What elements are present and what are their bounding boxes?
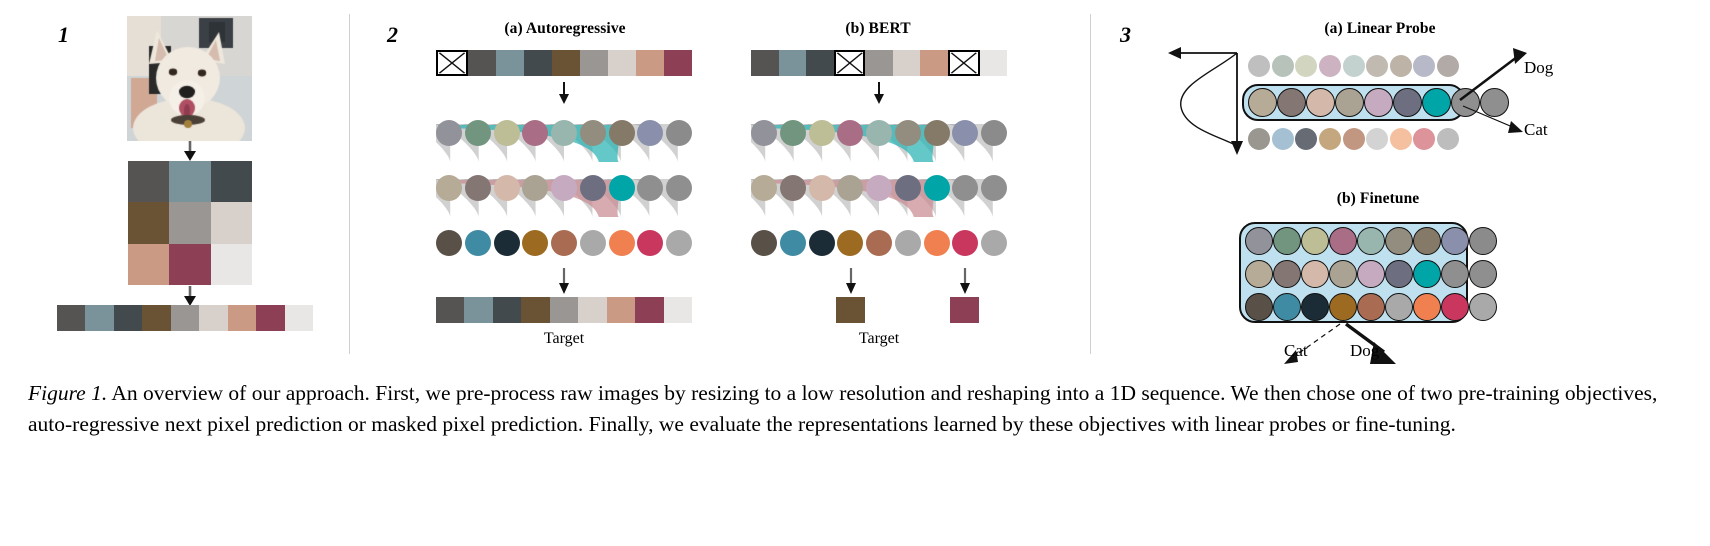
token-dot xyxy=(1413,55,1435,77)
arrow-bert-input-to-layer1 xyxy=(870,82,888,104)
bert-input-sequence xyxy=(751,50,1007,76)
sequence-cell xyxy=(608,50,636,76)
sequence-cell xyxy=(751,50,779,76)
token-dot xyxy=(1469,260,1497,288)
token-dot xyxy=(1273,227,1301,255)
arrow-bert-target-2 xyxy=(956,268,974,294)
sequence-cell xyxy=(171,305,199,331)
token-dot xyxy=(837,175,863,201)
pixel-cell xyxy=(128,161,169,202)
sequence-cell xyxy=(578,297,606,323)
token-dot xyxy=(666,120,692,146)
token-dot xyxy=(895,120,921,146)
token-dot xyxy=(1272,128,1294,150)
token-dot xyxy=(952,230,978,256)
token-dot xyxy=(1441,260,1469,288)
token-dot xyxy=(952,120,978,146)
token-dot xyxy=(981,175,1007,201)
linear-probe-label-dog: Dog xyxy=(1524,58,1553,78)
token-dot xyxy=(866,175,892,201)
token-dot xyxy=(1329,293,1357,321)
token-dot xyxy=(1469,227,1497,255)
mask-token-icon xyxy=(834,50,866,76)
token-dot xyxy=(1441,293,1469,321)
token-dot xyxy=(666,175,692,201)
token-dot xyxy=(1343,55,1365,77)
sequence-cell xyxy=(114,305,142,331)
token-dot xyxy=(1248,55,1270,77)
sequence-cell xyxy=(806,50,834,76)
token-dot xyxy=(494,120,520,146)
sequence-cell xyxy=(228,305,256,331)
pixel-cell xyxy=(169,244,210,285)
token-dot xyxy=(494,175,520,201)
pixel-sequence xyxy=(57,305,313,331)
linear-probe-label-cat: Cat xyxy=(1524,120,1548,140)
token-dot xyxy=(609,230,635,256)
token-dot xyxy=(895,175,921,201)
token-dot xyxy=(465,230,491,256)
sequence-cell xyxy=(524,50,552,76)
pixel-cell xyxy=(169,202,210,243)
token-dot xyxy=(1248,128,1270,150)
sequence-cell xyxy=(285,305,313,331)
token-dot xyxy=(1335,88,1364,117)
sequence-cell xyxy=(893,50,921,76)
pixel-cell xyxy=(211,161,252,202)
pixel-cell xyxy=(169,161,210,202)
token-dot xyxy=(1357,260,1385,288)
sequence-cell xyxy=(85,305,113,331)
autoregressive-input-sequence xyxy=(436,50,692,76)
autoregressive-target-label: Target xyxy=(436,330,692,348)
mask-token-icon xyxy=(436,50,468,76)
token-dot xyxy=(1385,293,1413,321)
token-dot xyxy=(580,230,606,256)
token-dot xyxy=(609,120,635,146)
token-dot xyxy=(751,230,777,256)
token-dot xyxy=(751,175,777,201)
token-dot xyxy=(465,175,491,201)
finetune-label-cat: Cat xyxy=(1284,341,1308,361)
token-dot xyxy=(551,230,577,256)
sequence-cell xyxy=(664,50,692,76)
panel-3-number: 3 xyxy=(1120,22,1131,48)
token-dot xyxy=(1357,293,1385,321)
sequence-cell xyxy=(550,297,578,323)
pixel-cell xyxy=(128,202,169,243)
arrow-bert-target-1 xyxy=(842,268,860,294)
token-dot xyxy=(1364,88,1393,117)
token-dot xyxy=(580,175,606,201)
autoregressive-layer3-row xyxy=(436,230,692,256)
bert-target-label: Target xyxy=(751,330,1007,348)
arrow-grid-to-sequence xyxy=(181,286,199,306)
token-dot xyxy=(1390,55,1412,77)
token-dot xyxy=(637,230,663,256)
panel-divider-1 xyxy=(349,14,350,354)
token-dot xyxy=(1301,227,1329,255)
token-dot xyxy=(1319,55,1341,77)
token-dot xyxy=(465,120,491,146)
sequence-cell xyxy=(607,297,635,323)
panel-1-number: 1 xyxy=(58,22,69,48)
pixel-cell xyxy=(211,202,252,243)
token-dot xyxy=(1306,88,1335,117)
caption-text: An overview of our approach. First, we p… xyxy=(28,381,1657,436)
token-dot xyxy=(1393,88,1422,117)
token-dot xyxy=(1413,227,1441,255)
token-dot xyxy=(580,120,606,146)
token-dot xyxy=(1366,55,1388,77)
token-dot xyxy=(866,120,892,146)
token-dot xyxy=(780,230,806,256)
figure-area: 1 2 (a) Autoregressive Target (b) BERT xyxy=(0,0,1710,368)
linear-probe-row-bot xyxy=(1248,128,1459,150)
token-dot xyxy=(666,230,692,256)
sequence-cell xyxy=(199,305,227,331)
token-dot xyxy=(751,120,777,146)
sequence-cell xyxy=(436,297,464,323)
sequence-cell xyxy=(57,305,85,331)
finetune-label-dog: Dog xyxy=(1350,341,1379,361)
token-dot xyxy=(1273,293,1301,321)
finetune-row-mid xyxy=(1245,260,1462,288)
sequence-cell xyxy=(521,297,549,323)
token-dot xyxy=(1385,227,1413,255)
token-dot xyxy=(551,120,577,146)
sequence-cell xyxy=(256,305,284,331)
autoregressive-target-sequence xyxy=(436,297,692,323)
token-dot xyxy=(551,175,577,201)
token-dot xyxy=(1441,227,1469,255)
sequence-cell xyxy=(580,50,608,76)
sequence-cell xyxy=(635,297,663,323)
token-dot xyxy=(1295,55,1317,77)
token-dot xyxy=(1343,128,1365,150)
sequence-cell xyxy=(493,297,521,323)
finetune-row-top xyxy=(1245,227,1462,255)
linear-probe-title: (a) Linear Probe xyxy=(1290,20,1470,38)
pixel-cell xyxy=(211,244,252,285)
token-dot xyxy=(895,230,921,256)
token-dot xyxy=(1248,88,1277,117)
token-dot xyxy=(436,175,462,201)
token-dot xyxy=(1366,128,1388,150)
arrow-photo-to-grid xyxy=(181,141,199,161)
sequence-cell xyxy=(468,50,496,76)
finetune-title: (b) Finetune xyxy=(1288,190,1468,208)
token-dot xyxy=(1390,128,1412,150)
token-dot xyxy=(522,175,548,201)
token-dot xyxy=(837,230,863,256)
token-dot xyxy=(637,175,663,201)
bert-target-squares xyxy=(751,297,1007,323)
token-dot xyxy=(1272,55,1294,77)
token-dot xyxy=(1245,260,1273,288)
token-dot xyxy=(837,120,863,146)
sequence-cell xyxy=(980,50,1008,76)
token-dot xyxy=(1413,293,1441,321)
caption-label: Figure 1. xyxy=(28,381,107,405)
token-dot xyxy=(1245,293,1273,321)
dog-photo xyxy=(127,16,252,141)
bert-layer3-row xyxy=(751,230,1007,256)
token-dot xyxy=(780,175,806,201)
figure-caption: Figure 1. An overview of our approach. F… xyxy=(28,378,1688,440)
token-dot xyxy=(522,120,548,146)
token-dot xyxy=(522,230,548,256)
linear-probe-row-top xyxy=(1248,55,1459,77)
bert-layer2-row xyxy=(751,175,1007,201)
bert-target-cell xyxy=(950,297,978,323)
autoregressive-title: (a) Autoregressive xyxy=(445,20,685,38)
arrow-ar-input-to-layer1 xyxy=(555,82,573,104)
bert-layer1-row xyxy=(751,120,1007,146)
sequence-cell xyxy=(636,50,664,76)
pixel-grid xyxy=(128,161,252,285)
token-dot xyxy=(924,175,950,201)
bert-title: (b) BERT xyxy=(788,20,968,38)
token-dot xyxy=(924,230,950,256)
token-dot xyxy=(1301,293,1329,321)
token-dot xyxy=(436,230,462,256)
sequence-cell xyxy=(664,297,692,323)
token-dot xyxy=(1422,88,1451,117)
sequence-cell xyxy=(920,50,948,76)
sequence-cell xyxy=(464,297,492,323)
token-dot xyxy=(637,120,663,146)
token-dot xyxy=(1413,128,1435,150)
token-dot xyxy=(924,120,950,146)
linear-probe-row-mid xyxy=(1248,88,1459,117)
finetune-row-bot xyxy=(1245,293,1462,321)
sequence-cell xyxy=(496,50,524,76)
autoregressive-layer1-row xyxy=(436,120,692,146)
autoregressive-layer2-row xyxy=(436,175,692,201)
token-dot xyxy=(952,175,978,201)
pixel-cell xyxy=(128,244,169,285)
bert-target-cell xyxy=(836,297,864,323)
mask-token-icon xyxy=(948,50,980,76)
token-dot xyxy=(780,120,806,146)
token-dot xyxy=(1413,260,1441,288)
token-dot xyxy=(1319,128,1341,150)
panel-divider-2 xyxy=(1090,14,1091,354)
panel-2-number: 2 xyxy=(387,22,398,48)
token-dot xyxy=(1385,260,1413,288)
token-dot xyxy=(1295,128,1317,150)
token-dot xyxy=(1273,260,1301,288)
token-dot xyxy=(809,175,835,201)
token-dot xyxy=(1329,227,1357,255)
token-dot xyxy=(1301,260,1329,288)
sequence-cell xyxy=(552,50,580,76)
token-dot xyxy=(866,230,892,256)
sequence-cell xyxy=(779,50,807,76)
sequence-cell xyxy=(142,305,170,331)
arrow-ar-layer3-to-target xyxy=(555,268,573,294)
token-dot xyxy=(436,120,462,146)
token-dot xyxy=(809,120,835,146)
linear-probe-backprop-arrow xyxy=(1165,45,1245,155)
token-dot xyxy=(1277,88,1306,117)
token-dot xyxy=(1469,293,1497,321)
token-dot xyxy=(1245,227,1273,255)
token-dot xyxy=(981,230,1007,256)
token-dot xyxy=(809,230,835,256)
sequence-cell xyxy=(865,50,893,76)
token-dot xyxy=(981,120,1007,146)
token-dot xyxy=(1329,260,1357,288)
token-dot xyxy=(609,175,635,201)
token-dot xyxy=(1357,227,1385,255)
token-dot xyxy=(494,230,520,256)
